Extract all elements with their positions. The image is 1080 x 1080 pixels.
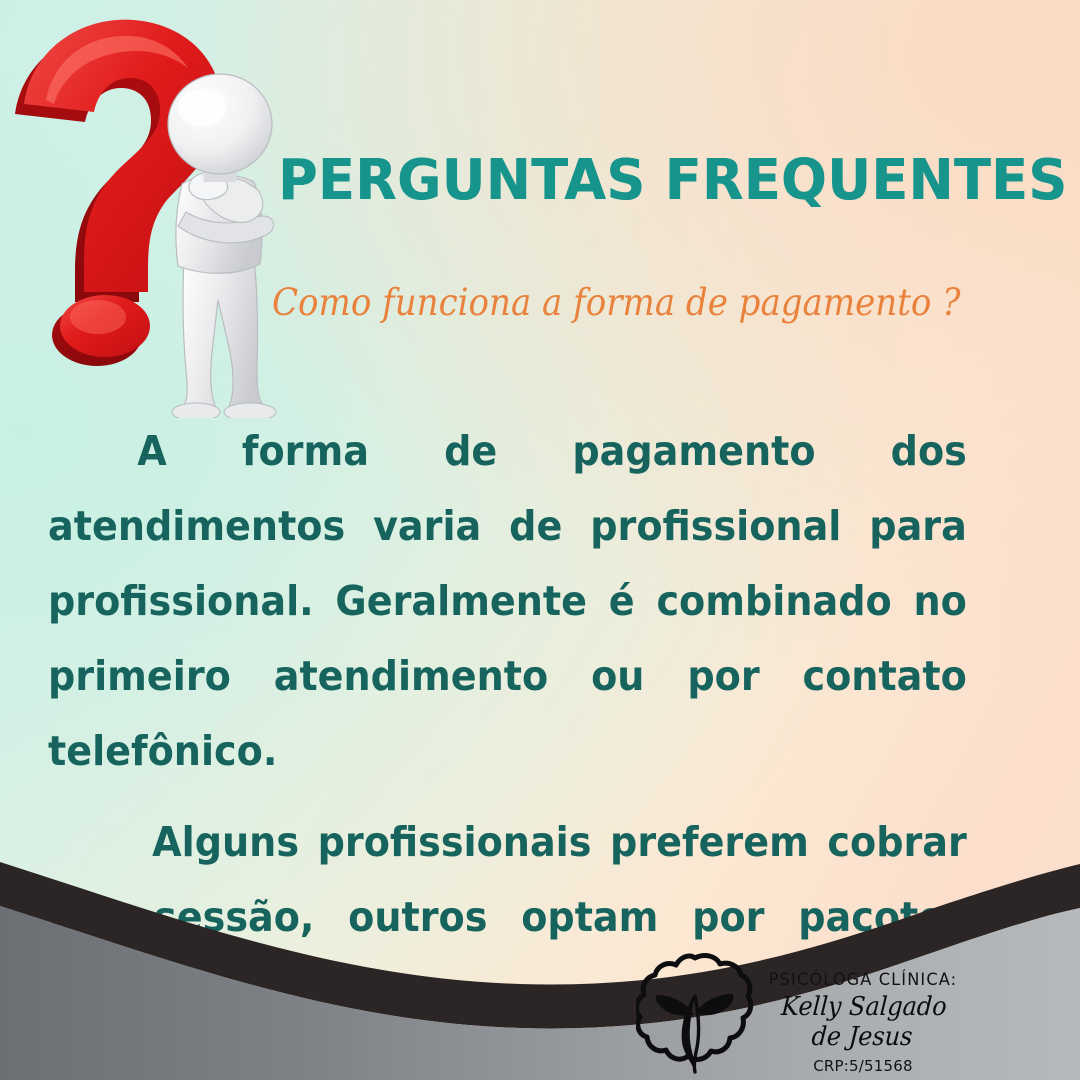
faq-poster: PERGUNTAS FREQUENTES Como funciona a for… xyxy=(0,0,1080,1080)
page-title: PERGUNTAS FREQUENTES xyxy=(278,148,950,213)
flower-psi-logo-icon xyxy=(636,952,754,1076)
question-subtitle: Como funciona a forma de pagamento ? xyxy=(272,281,971,324)
thinking-person-figure xyxy=(168,74,276,418)
signature-text-block: PSICÓLOGA CLÍNICA: Kelly Salgado de Jesu… xyxy=(760,970,966,1075)
answer-paragraph-1: A forma de pagamento dos atendimentos va… xyxy=(48,414,967,789)
logo-registration-number: CRP:5/51568 xyxy=(760,1057,966,1075)
logo-practitioner-name: Kelly Salgado de Jesus xyxy=(766,992,959,1052)
question-illustration xyxy=(6,8,336,418)
brand-signature: PSICÓLOGA CLÍNICA: Kelly Salgado de Jesu… xyxy=(636,952,966,1076)
logo-role-label: PSICÓLOGA CLÍNICA: xyxy=(765,970,961,990)
